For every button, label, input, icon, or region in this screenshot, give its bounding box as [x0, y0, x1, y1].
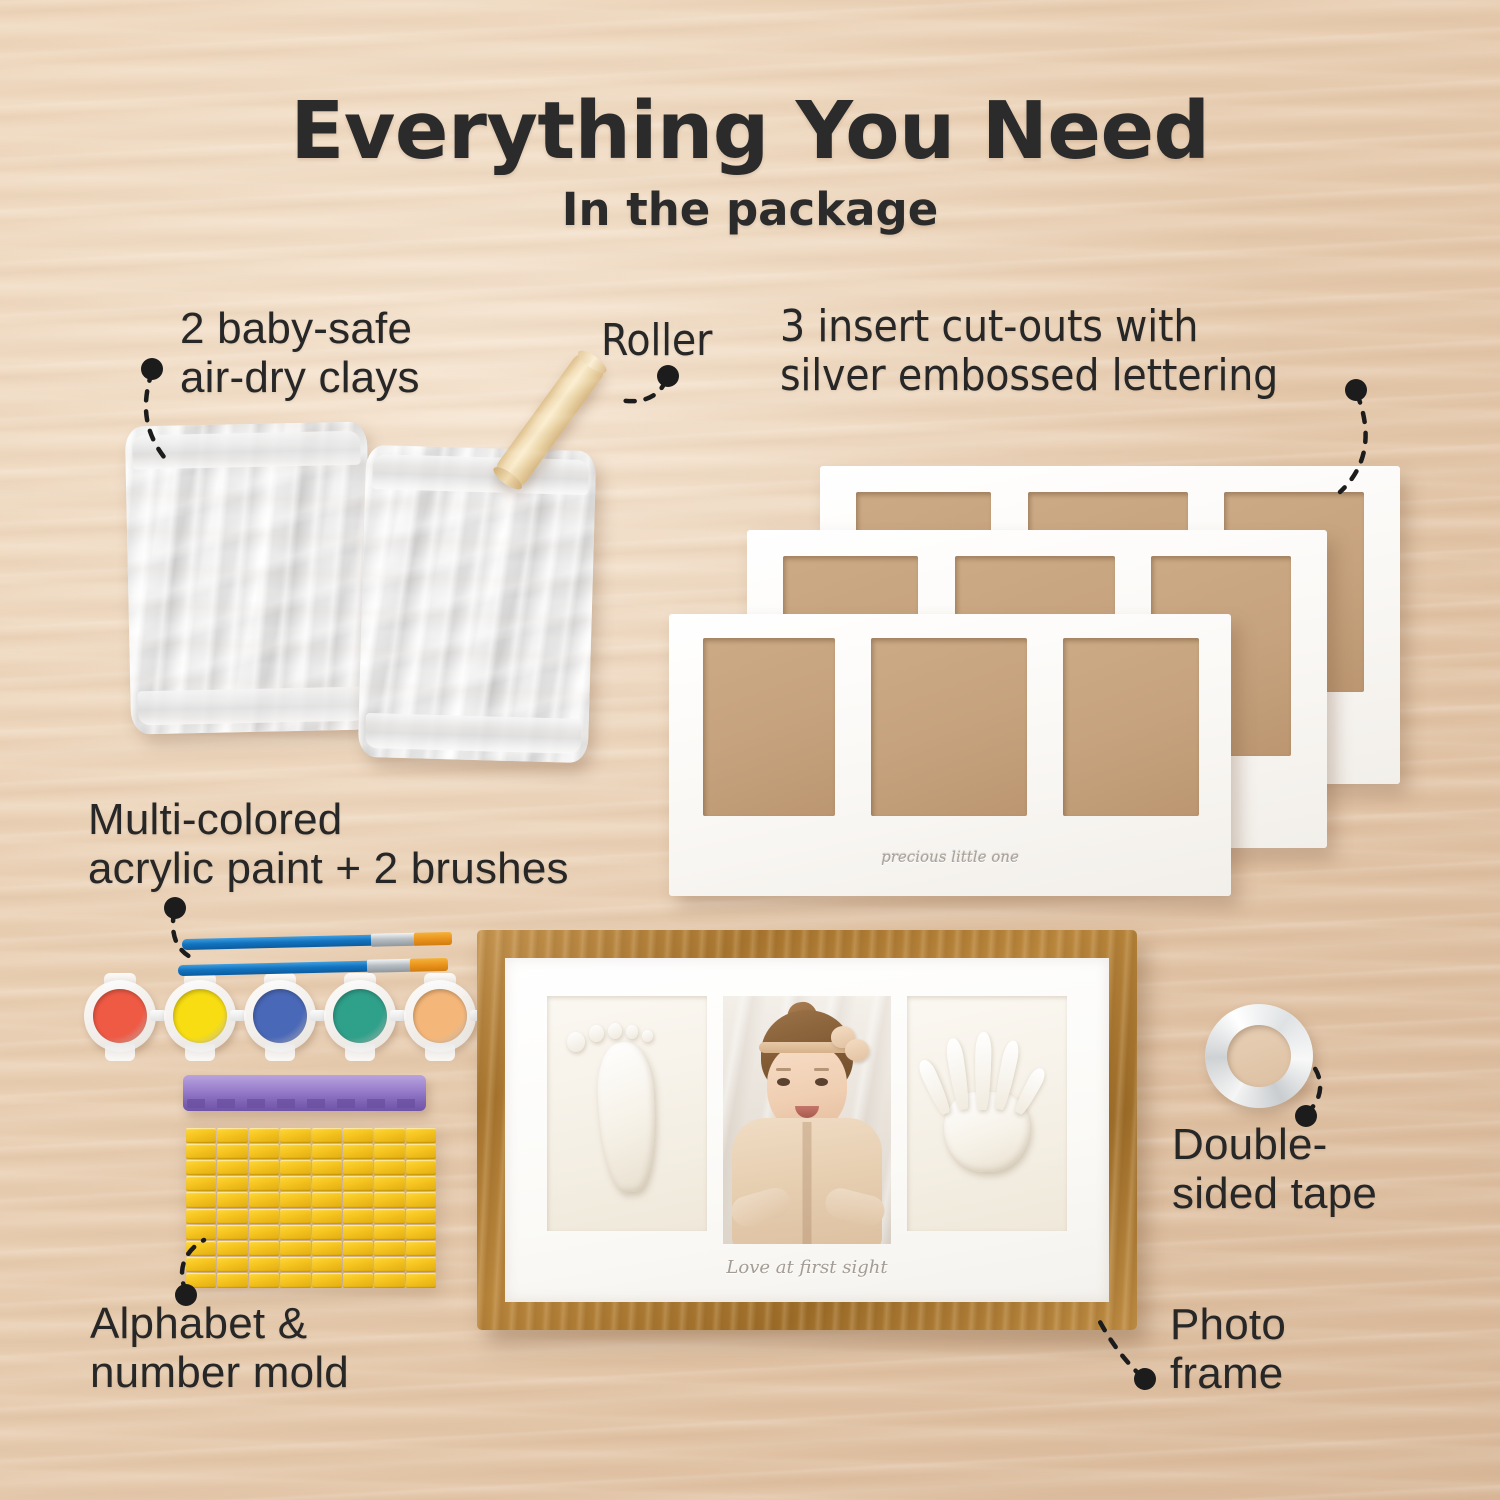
callout-tape-line1: Double-	[1172, 1120, 1472, 1169]
leader-line-paint	[173, 912, 196, 960]
leader-line-inserts	[1340, 394, 1366, 492]
page-subtitle: In the package	[0, 187, 1500, 232]
leader-dot-roller	[657, 365, 679, 387]
heading-block: Everything You Need In the package	[0, 92, 1500, 232]
callout-alphabet-line2: number mold	[90, 1348, 490, 1397]
infographic-canvas: Everything You Need In the package Bundl…	[0, 0, 1500, 1500]
leader-line-tape	[1307, 1062, 1320, 1113]
callout-clays-line1: 2 baby-safe	[180, 304, 610, 353]
callout-inserts: 3 insert cut-outs with silver embossed l…	[780, 302, 1400, 401]
callout-tape-line2: sided tape	[1172, 1169, 1472, 1218]
leader-line-clays	[146, 372, 168, 462]
leader-dot-paint	[164, 897, 186, 919]
callout-frame: Photo frame	[1170, 1300, 1450, 1399]
callout-inserts-line2: silver embossed lettering	[780, 351, 1400, 400]
callout-alphabet: Alphabet & number mold	[90, 1299, 490, 1398]
leader-dot-frame	[1134, 1368, 1156, 1390]
page-title: Everything You Need	[0, 92, 1500, 171]
callout-paint: Multi-colored acrylic paint + 2 brushes	[88, 795, 668, 894]
callout-clays: 2 baby-safe air-dry clays	[180, 304, 610, 403]
callout-alphabet-line1: Alphabet &	[90, 1299, 490, 1348]
callout-clays-line2: air-dry clays	[180, 353, 610, 402]
callout-frame-line1: Photo	[1170, 1300, 1450, 1349]
callout-paint-line2: acrylic paint + 2 brushes	[88, 844, 668, 893]
callout-tape: Double- sided tape	[1172, 1120, 1472, 1219]
callout-inserts-line1: 3 insert cut-outs with	[780, 302, 1400, 351]
callout-frame-line2: frame	[1170, 1349, 1450, 1398]
leader-line-frame	[1100, 1322, 1142, 1377]
callout-paint-line1: Multi-colored	[88, 795, 668, 844]
leader-line-roller	[620, 380, 666, 401]
leader-dot-clays	[141, 358, 163, 380]
